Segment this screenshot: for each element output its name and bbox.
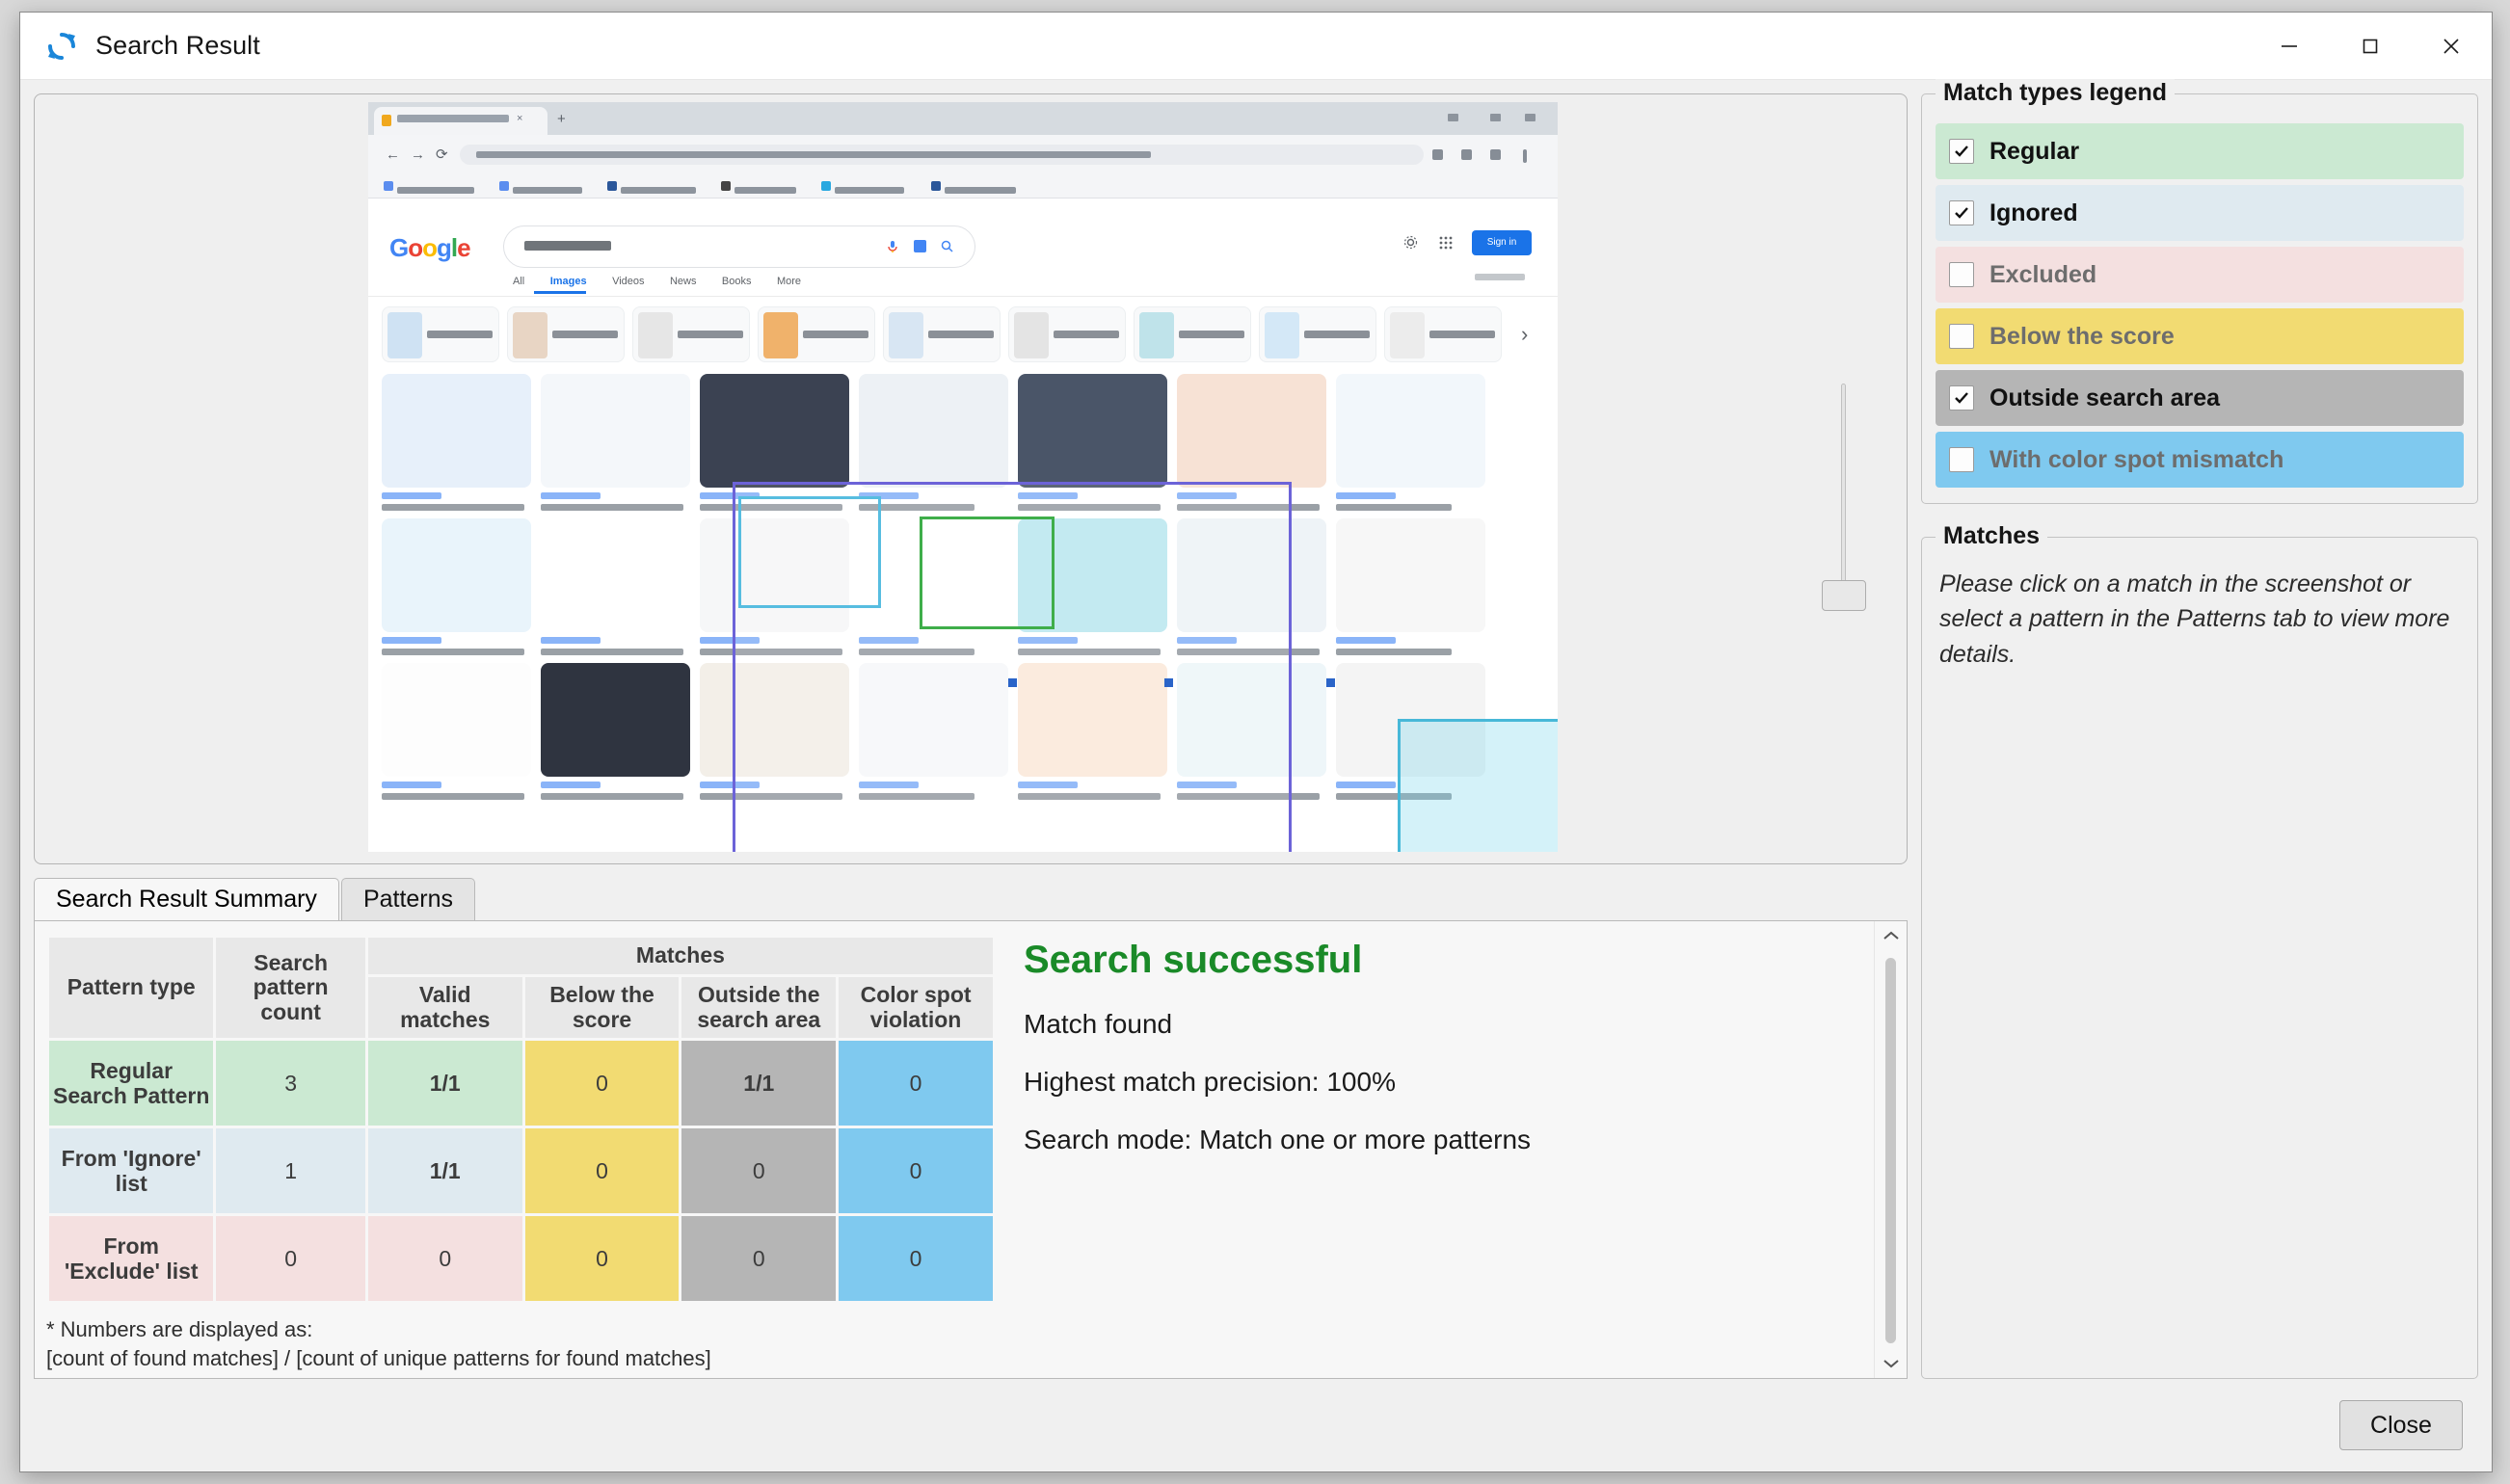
browser-close-icon: [1525, 114, 1535, 121]
browser-url-text: [476, 151, 1151, 158]
checkbox-checked-icon[interactable]: [1949, 200, 1974, 225]
search-status-title: Search successful: [1024, 939, 1868, 982]
legend-item-below-the-score[interactable]: Below the score: [1936, 308, 2464, 364]
th-pattern-type: Pattern type: [49, 938, 213, 1038]
chip-item: [883, 306, 1001, 362]
image-result: [1177, 663, 1326, 800]
captured-screenshot[interactable]: × + ← → ⟳: [368, 102, 1558, 852]
chip-item: [1134, 306, 1251, 362]
google-nav-news: News: [670, 276, 697, 287]
matches-title: Matches: [1936, 522, 2047, 550]
summary-table: Pattern type Search pattern count Matche…: [46, 935, 996, 1304]
chip-item: [507, 306, 625, 362]
google-lens-icon: [914, 240, 926, 252]
row-label-from-ignore-list: From 'Ignore' list: [49, 1128, 213, 1213]
zoom-slider-handle[interactable]: [1822, 580, 1866, 611]
google-images-page: Google: [368, 199, 1558, 798]
legend-item-with-color-spot-mismatch[interactable]: With color spot mismatch: [1936, 432, 2464, 488]
window-body: × + ← → ⟳: [20, 80, 2492, 1379]
google-nav-books: Books: [722, 276, 752, 287]
preview-zoom-slider[interactable]: [1814, 384, 1872, 615]
chip-item: [1259, 306, 1376, 362]
image-result: [541, 518, 690, 655]
minimize-button[interactable]: [2249, 13, 2330, 79]
th-below-the-score: Below the score: [525, 977, 680, 1039]
image-result: [700, 663, 849, 800]
legend-label: Ignored: [1989, 199, 2078, 227]
tab-title-placeholder: [397, 115, 509, 122]
related-search-chips: [382, 306, 1519, 366]
image-result: [1177, 518, 1326, 655]
th-outside-search-area: Outside the search area: [681, 977, 836, 1039]
browser-minimize-icon: [1448, 114, 1458, 121]
google-nav-row: All Images Videos News Books More: [513, 272, 822, 284]
cell-below-score: 0: [525, 1128, 680, 1213]
summary-scrollbar[interactable]: [1874, 921, 1907, 1378]
bookmark-item: [499, 181, 582, 191]
new-tab-icon: +: [557, 114, 566, 124]
image-result: [859, 663, 1008, 800]
matches-group: Matches Please click on a match in the s…: [1921, 537, 2478, 1379]
google-apps-icon: [1438, 235, 1454, 251]
maximize-button[interactable]: [2330, 13, 2411, 79]
browser-menu-icon: [1523, 149, 1527, 163]
matches-hint-text: Please click on a match in the screensho…: [1939, 567, 2460, 672]
image-result: [1177, 374, 1326, 511]
google-divider: [368, 296, 1558, 297]
dialog-footer: Close: [20, 1379, 2492, 1471]
scroll-up-icon[interactable]: [1875, 921, 1907, 950]
th-search-pattern-count: Search pattern count: [216, 938, 364, 1038]
cell-valid-matches: 1/1: [368, 1128, 522, 1213]
checkbox-unchecked-icon[interactable]: [1949, 447, 1974, 472]
google-sign-in-button: Sign in: [1472, 230, 1532, 255]
image-result: [1336, 518, 1485, 655]
match-types-legend-group: Match types legend Regular Ignored Exclu…: [1921, 93, 2478, 504]
browser-profile-icon: [1461, 149, 1472, 160]
cell-color-spot: 0: [839, 1128, 993, 1213]
table-row: Regular Search Pattern 3 1/1 0 1/1 0: [49, 1041, 993, 1126]
legend-label: Regular: [1989, 138, 2079, 166]
search-icon: [941, 240, 953, 252]
cell-outside-area: 1/1: [681, 1041, 836, 1126]
footnote-line-2: [count of found matches] / [count of uni…: [46, 1344, 1008, 1373]
search-result-summary-panel: Pattern type Search pattern count Matche…: [34, 920, 1908, 1379]
tab-patterns[interactable]: Patterns: [341, 878, 475, 920]
bookmark-item: [821, 181, 904, 191]
highest-match-precision-text: Highest match precision: 100%: [1024, 1067, 1868, 1098]
summary-table-container: Pattern type Search pattern count Matche…: [35, 921, 1008, 1378]
chips-next-arrow-icon: ›: [1521, 322, 1528, 347]
row-label-from-exclude-list: From 'Exclude' list: [49, 1216, 213, 1301]
right-column: Match types legend Regular Ignored Exclu…: [1921, 93, 2478, 1379]
image-results-grid: [382, 374, 1538, 852]
google-nav-images: Images: [550, 276, 587, 287]
bookmark-item: [384, 181, 474, 191]
legend-item-ignored[interactable]: Ignored: [1936, 185, 2464, 241]
match-handle: [1326, 678, 1335, 687]
legend-title: Match types legend: [1936, 79, 2175, 107]
google-nav-more: More: [777, 276, 801, 287]
legend-label: Outside search area: [1989, 384, 2220, 412]
image-result: [382, 374, 531, 511]
close-icon[interactable]: [2411, 13, 2492, 79]
cell-color-spot: 0: [839, 1041, 993, 1126]
legend-label: Below the score: [1989, 323, 2175, 351]
image-result: [541, 663, 690, 800]
scrollbar-thumb[interactable]: [1885, 958, 1896, 1343]
match-handle: [1164, 678, 1173, 687]
browser-bookmark-icon: [1490, 149, 1501, 160]
google-nav-videos: Videos: [612, 276, 644, 287]
image-result: [859, 374, 1008, 511]
bookmark-item: [721, 181, 796, 191]
checkbox-unchecked-icon[interactable]: [1949, 324, 1974, 349]
tab-close-icon: ×: [517, 115, 525, 123]
checkbox-checked-icon[interactable]: [1949, 139, 1974, 164]
cell-valid-matches: 1/1: [368, 1041, 522, 1126]
scrollbar-track[interactable]: [1885, 952, 1896, 1347]
screenshot-preview-panel[interactable]: × + ← → ⟳: [34, 93, 1908, 864]
settings-gear-icon: [1403, 235, 1418, 250]
match-found-text: Match found: [1024, 1009, 1868, 1040]
google-logo: Google: [389, 233, 470, 263]
google-tools-placeholder: [1475, 274, 1525, 280]
tab-favicon-icon: [382, 115, 391, 126]
window-title: Search Result: [95, 31, 260, 61]
image-result: [382, 663, 531, 800]
cell-below-score: 0: [525, 1216, 680, 1301]
th-valid-matches: Valid matches: [368, 977, 522, 1039]
refresh-circle-icon: [45, 30, 78, 63]
browser-reload-icon: ⟳: [436, 148, 448, 161]
image-result: [382, 518, 531, 655]
close-button[interactable]: Close: [2339, 1400, 2463, 1450]
chip-item: [1384, 306, 1502, 362]
footnote-line-1: * Numbers are displayed as:: [46, 1315, 1008, 1344]
image-result: [1336, 374, 1485, 511]
cell-below-score: 0: [525, 1041, 680, 1126]
scroll-down-icon[interactable]: [1875, 1349, 1907, 1378]
cell-outside-area: 0: [681, 1216, 836, 1301]
cell-pattern-count: 0: [216, 1216, 364, 1301]
image-result: [541, 374, 690, 511]
browser-extensions-icon: [1432, 149, 1443, 160]
cell-color-spot: 0: [839, 1216, 993, 1301]
image-result: [700, 518, 849, 655]
zoom-slider-track[interactable]: [1841, 384, 1846, 588]
image-result: [700, 374, 849, 511]
row-label-regular-search-pattern: Regular Search Pattern: [49, 1041, 213, 1126]
browser-maximize-icon: [1490, 114, 1501, 121]
table-row: From 'Exclude' list 0 0 0 0 0: [49, 1216, 993, 1301]
google-nav-underline: [534, 291, 586, 294]
google-nav-all: All: [513, 276, 524, 287]
image-result: [1018, 518, 1167, 655]
match-handle: [1008, 678, 1017, 687]
table-header-group-row: Pattern type Search pattern count Matche…: [49, 938, 993, 974]
image-result: [1018, 663, 1167, 800]
legend-label: With color spot mismatch: [1989, 446, 2283, 474]
image-result: [1018, 374, 1167, 511]
search-result-details: Search successful Match found Highest ma…: [1008, 921, 1907, 1378]
chip-item: [632, 306, 750, 362]
cell-valid-matches: 0: [368, 1216, 522, 1301]
google-query-text: [524, 241, 611, 251]
table-footnote: * Numbers are displayed as: [count of fo…: [46, 1315, 1008, 1372]
cell-pattern-count: 1: [216, 1128, 364, 1213]
tab-search-result-summary[interactable]: Search Result Summary: [34, 878, 339, 920]
bookmark-item: [931, 181, 1016, 191]
legend-item-excluded[interactable]: Excluded: [1936, 247, 2464, 303]
cell-outside-area: 0: [681, 1128, 836, 1213]
microphone-icon: [887, 240, 898, 253]
search-result-window: Search Result: [19, 12, 2493, 1472]
image-result: [859, 518, 1008, 655]
th-matches-group: Matches: [368, 938, 993, 974]
search-mode-text: Search mode: Match one or more patterns: [1024, 1125, 1868, 1155]
browser-forward-icon: →: [411, 148, 423, 161]
tab-bar: Search Result Summary Patterns: [34, 878, 1908, 920]
table-row: From 'Ignore' list 1 1/1 0 0 0: [49, 1128, 993, 1213]
bookmark-item: [607, 181, 696, 191]
chip-item: [758, 306, 875, 362]
chip-item: [382, 306, 499, 362]
legend-item-regular[interactable]: Regular: [1936, 123, 2464, 179]
checkbox-checked-icon[interactable]: [1949, 385, 1974, 411]
browser-back-icon: ←: [386, 148, 398, 161]
title-bar: Search Result: [20, 13, 2492, 80]
th-color-spot-violation: Color spot violation: [839, 977, 993, 1039]
legend-item-outside-search-area[interactable]: Outside search area: [1936, 370, 2464, 426]
chip-item: [1008, 306, 1126, 362]
legend-label: Excluded: [1989, 261, 2096, 289]
image-result: [1336, 663, 1485, 800]
window-controls: [2249, 13, 2492, 79]
cell-pattern-count: 3: [216, 1041, 364, 1126]
left-column: × + ← → ⟳: [34, 93, 1908, 1379]
checkbox-unchecked-icon[interactable]: [1949, 262, 1974, 287]
